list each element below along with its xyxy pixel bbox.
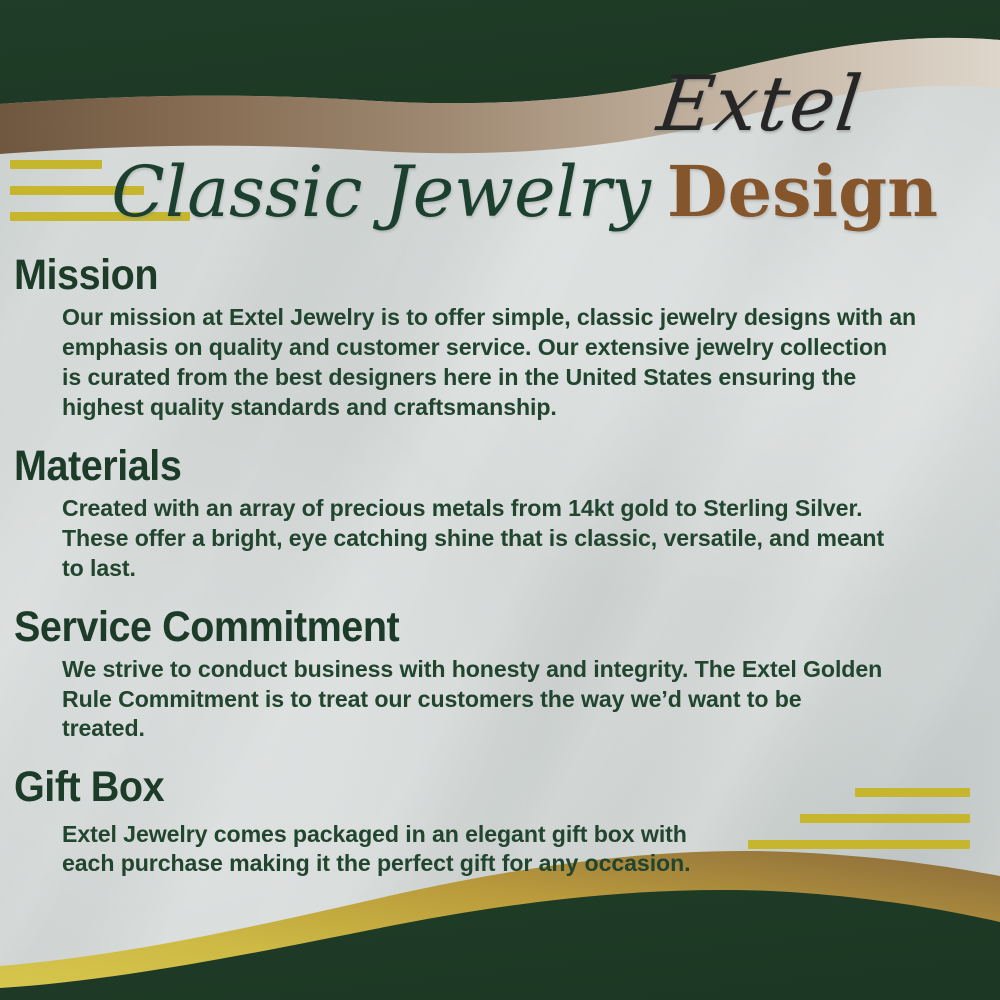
content-sections: Mission Our mission at Extel Jewelry is … [0,252,1000,887]
section-materials: Materials Created with an array of preci… [0,443,1000,584]
body-line: Extel Jewelry comes packaged in an elega… [62,820,952,850]
body-line: Created with an array of precious metals… [62,494,952,524]
body-line: emphasis on quality and customer service… [62,333,952,363]
section-heading-mission: Mission [14,252,921,299]
body-line: highest quality standards and craftsmans… [62,393,952,423]
body-line: each purchase making it the perfect gift… [62,849,952,879]
section-body-gift-box: Extel Jewelry comes packaged in an elega… [62,820,952,880]
body-line: These offer a bright, eye catching shine… [62,524,952,554]
poster-canvas: Extel Classic JewelryDesign Mission Our … [0,0,1000,1000]
section-service-commitment: Service Commitment We strive to conduct … [0,604,1000,745]
body-line: to last. [62,554,952,584]
title-design: Design [667,150,938,233]
section-gift-box: Gift Box Extel Jewelry comes packaged in… [0,764,1000,879]
title-classic-jewelry: Classic Jewelry [111,151,651,233]
brand-logo-extel: Extel [595,66,924,142]
section-body-mission: Our mission at Extel Jewelry is to offer… [62,303,952,422]
body-line: Rule Commitment is to treat our customer… [62,685,952,715]
poster-title: Classic JewelryDesign [0,150,1000,233]
section-body-service-commitment: We strive to conduct business with hones… [62,655,952,745]
section-body-materials: Created with an array of precious metals… [62,494,952,584]
body-line: Our mission at Extel Jewelry is to offer… [62,303,952,333]
section-heading-service-commitment: Service Commitment [14,604,921,651]
section-heading-materials: Materials [14,443,921,490]
body-line: We strive to conduct business with hones… [62,655,952,685]
section-heading-gift-box: Gift Box [14,764,921,811]
section-mission: Mission Our mission at Extel Jewelry is … [0,252,1000,423]
body-line: treated. [62,714,952,744]
body-line: is curated from the best designers here … [62,363,952,393]
